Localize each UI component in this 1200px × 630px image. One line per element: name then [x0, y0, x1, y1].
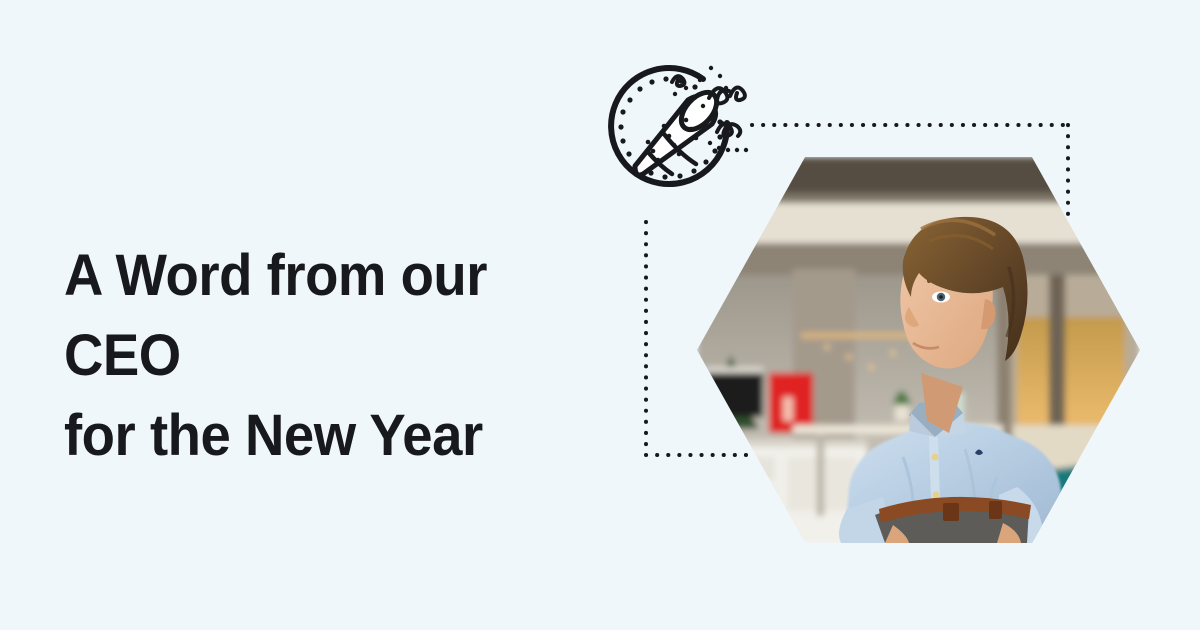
streamer-curl-4: [672, 76, 684, 86]
page-title: A Word from our CEO for the New Year: [64, 236, 609, 476]
party-popper-circle: [611, 68, 727, 184]
streamer-curl-1: [709, 88, 729, 103]
party-popper-cone: [635, 96, 716, 175]
party-popper-icon: [611, 66, 748, 184]
streamer-curl-3: [717, 124, 740, 136]
streamer-curl-2: [730, 87, 745, 100]
party-popper-cone-rib-1: [664, 134, 696, 164]
party-popper-confetti-dots: [673, 66, 748, 152]
party-popper-dot-ring: [618, 76, 722, 179]
party-popper-cone-mouth: [675, 86, 724, 136]
banner-root: A Word from our CEO for the New Year: [0, 0, 1200, 630]
ceo-portrait-photo: [697, 157, 1140, 543]
party-popper-streamers: [672, 76, 745, 136]
party-popper-cone-dots: [646, 110, 699, 163]
party-popper-cone-rib-2: [648, 152, 672, 174]
portrait-illustration: [697, 157, 1140, 543]
